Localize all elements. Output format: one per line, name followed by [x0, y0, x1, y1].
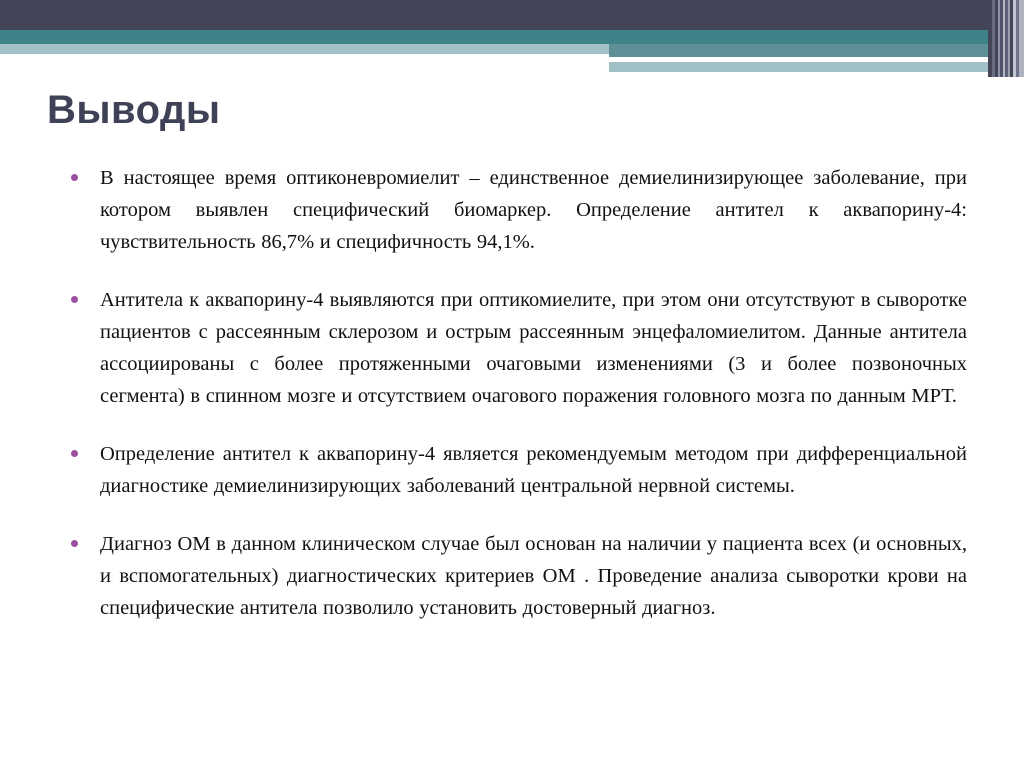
header-decoration — [0, 0, 1024, 72]
header-band-light-teal-right — [609, 62, 1024, 72]
list-item-text: Антитела к аквапорину-4 выявляются при о… — [100, 284, 967, 412]
header-band-teal — [0, 30, 1024, 44]
bullet-dot-icon — [71, 540, 78, 547]
bullet-dot-icon — [71, 450, 78, 457]
bullet-dot-icon — [71, 296, 78, 303]
presentation-slide: Выводы В настоящее время оптиконевромиел… — [0, 0, 1024, 767]
header-band-teal-right — [609, 44, 1024, 57]
conclusions-list: В настоящее время оптиконевромиелит – ед… — [62, 162, 967, 624]
list-item: В настоящее время оптиконевромиелит – ед… — [62, 162, 967, 258]
header-edge-stripe-12 — [1019, 0, 1024, 77]
list-item-text: В настоящее время оптиконевромиелит – ед… — [100, 162, 967, 258]
list-item: Диагноз ОМ в данном клиническом случае б… — [62, 528, 967, 624]
page-title: Выводы — [47, 88, 221, 132]
header-band-dark-navy — [0, 0, 1024, 30]
bullet-dot-icon — [71, 174, 78, 181]
list-item-text: Определение антител к аквапорину-4 являе… — [100, 438, 967, 502]
header-band-light-teal-left — [0, 44, 609, 54]
list-item-text: Диагноз ОМ в данном клиническом случае б… — [100, 528, 967, 624]
list-item: Определение антител к аквапорину-4 являе… — [62, 438, 967, 502]
header-edge-stripes — [988, 0, 1024, 77]
list-item: Антитела к аквапорину-4 выявляются при о… — [62, 284, 967, 412]
